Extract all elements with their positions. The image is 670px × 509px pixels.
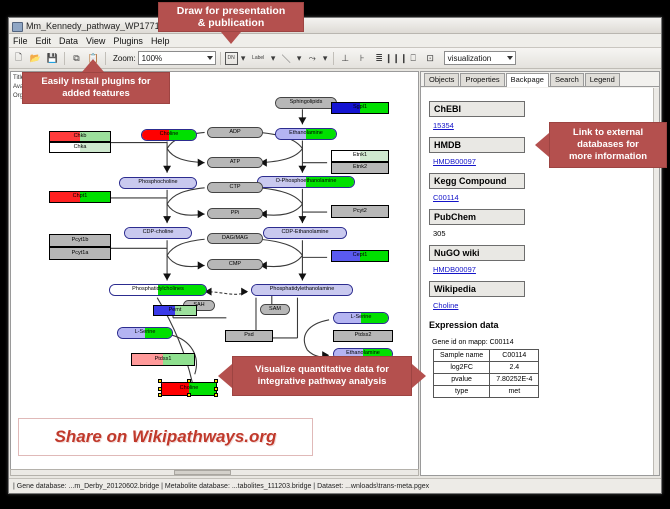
row-val-sample-name: C00114	[490, 350, 539, 362]
pathway-gene-etnk1[interactable]: Etnk1	[331, 150, 389, 162]
selection-handle-5[interactable]	[158, 393, 162, 397]
callout-visualize-left-arrow-icon	[218, 364, 232, 388]
interaction-icon[interactable]: ⤳	[305, 51, 320, 66]
pathway-gene-sgpl1[interactable]: Sgpl1	[331, 102, 389, 114]
toolbar-separator-2	[105, 52, 106, 65]
db-header-pubchem: PubChem	[429, 209, 525, 225]
db-header-nugo: NuGO wiki	[429, 245, 525, 261]
callout-draw-arrow-icon	[221, 32, 241, 44]
pathway-node-cdp-ethanolamine[interactable]: CDP-Ethanolamine	[263, 227, 347, 239]
expression-table: Sample name C00114 log2FC 2.4 pvalue 7.8…	[433, 349, 539, 398]
pathway-node-sphingolipids[interactable]: Sphingolipids	[275, 97, 337, 109]
pathway-gene-chkb[interactable]: Chkb	[49, 131, 111, 142]
row-key-pvalue: pvalue	[434, 374, 490, 386]
callout-draw-line1: Draw for presentation	[177, 5, 286, 17]
pathway-gene-etnk2[interactable]: Etnk2	[331, 162, 389, 174]
pathway-gene-pcyt1a[interactable]: Pcyt1a	[49, 247, 111, 260]
pathway-node-cmp[interactable]: CMP	[207, 259, 263, 270]
table-row: type met	[434, 386, 539, 398]
side-panel-tabs: Objects Properties Backpage Search Legen…	[421, 72, 659, 87]
zoom-value: 100%	[142, 54, 162, 63]
node-label: ADP	[229, 130, 240, 136]
menu-edit[interactable]: Edit	[36, 36, 52, 46]
db-link-kegg[interactable]: C00114	[433, 193, 653, 202]
tab-legend[interactable]: Legend	[585, 73, 620, 86]
callout-visualize-right-arrow-icon	[412, 364, 426, 388]
pathway-node-o-phosphoethanolamine[interactable]: O-Phosphoethanolamine	[257, 176, 355, 188]
callout-links-line2: databases for	[569, 139, 647, 151]
visualization-combobox[interactable]: visualization	[444, 51, 516, 65]
pathway-gene-cept1[interactable]: Cept1	[331, 250, 389, 262]
db-value-pubchem: 305	[433, 229, 653, 238]
menu-file[interactable]: File	[13, 36, 28, 46]
pathway-node-ethanolamine-top[interactable]: Ethanolamine	[275, 128, 337, 140]
callout-links-arrow-icon	[535, 133, 549, 157]
table-row: pvalue 7.80252E-4	[434, 374, 539, 386]
selection-handle-0[interactable]	[158, 379, 162, 383]
row-key-sample-name: Sample name	[434, 350, 490, 362]
pathway-node-l-serine-right[interactable]: L-Serine	[333, 312, 389, 324]
gene-label: Ptdss1	[155, 357, 172, 363]
gene-label: Pemt	[169, 308, 182, 314]
callout-links-line3: more information	[569, 151, 647, 163]
scrollbar-thumb[interactable]	[174, 470, 231, 475]
callout-draw-for-presentation: Draw for presentation & publication	[158, 2, 304, 32]
node-label: Sphingolipids	[290, 100, 323, 106]
menu-plugins[interactable]: Plugins	[113, 36, 143, 46]
toolbar-separator-3	[220, 52, 221, 65]
new-file-icon[interactable]: 🗋	[11, 51, 26, 66]
pathway-node-ctp[interactable]: CTP	[207, 182, 263, 193]
row-key-type: type	[434, 386, 490, 398]
pathway-node-phosphocholine[interactable]: Phosphocholine	[119, 177, 197, 189]
gene-label: Sgpl1	[353, 105, 367, 111]
toolbar: 🗋 📂 💾 ⧉ 📋 Zoom: 100% DN ▾ Label ▾ ＼ ▾ ⤳ …	[9, 48, 661, 69]
chevron-down-icon	[507, 56, 513, 60]
db-header-hmdb: HMDB	[429, 137, 525, 153]
expression-data-heading: Expression data	[429, 320, 653, 330]
gene-label: Cept1	[353, 253, 368, 259]
pathway-gene-psd[interactable]: Psd	[225, 330, 273, 342]
callout-visualize-line2: integrative pathway analysis	[255, 376, 389, 388]
canvas-horizontal-scrollbar[interactable]	[10, 469, 419, 476]
statusbar-text: | Gene database: ...m_Derby_20120602.bri…	[13, 483, 429, 490]
menu-help[interactable]: Help	[151, 36, 170, 46]
zoom-combobox[interactable]: 100%	[138, 51, 216, 65]
row-val-log2fc: 2.4	[490, 362, 539, 374]
selection-handle-3[interactable]	[158, 387, 162, 391]
gene-label: Etnk2	[353, 165, 367, 171]
selection-handle-7[interactable]	[214, 393, 218, 397]
gene-label: Etnk1	[353, 153, 367, 159]
db-link-wikipedia[interactable]: Choline	[433, 301, 653, 310]
callout-plugins-arrow-icon	[82, 59, 104, 72]
pathway-node-adp[interactable]: ADP	[207, 127, 263, 138]
stack-icon[interactable]: ⎕	[406, 51, 421, 66]
open-folder-icon[interactable]: 📂	[28, 51, 43, 66]
label-dropdown-icon[interactable]: ▾	[270, 51, 277, 66]
tab-search[interactable]: Search	[550, 73, 584, 86]
node-label: Choline	[180, 386, 199, 392]
statusbar: | Gene database: ...m_Derby_20120602.bri…	[9, 478, 661, 493]
menubar: File Edit Data View Plugins Help	[9, 34, 661, 48]
screen-root: Mm_Kennedy_pathway_WP1771_45176.gpml Fil…	[0, 0, 670, 509]
pathway-node-ppi[interactable]: PPi	[207, 208, 263, 219]
pathway-node-phosphatidylcholines[interactable]: Phosphatidylcholines	[109, 284, 207, 296]
row-key-log2fc: log2FC	[434, 362, 490, 374]
visualization-value: visualization	[448, 54, 492, 63]
node-label: CMP	[229, 262, 241, 268]
selection-handle-6[interactable]	[187, 393, 191, 397]
node-label: Phosphatidylethanolamine	[270, 287, 335, 293]
gene-label: Ptdss2	[355, 333, 372, 339]
pathway-gene-pemt[interactable]: Pemt	[153, 305, 197, 316]
node-label: Phosphocholine	[138, 180, 177, 186]
menu-data[interactable]: Data	[59, 36, 78, 46]
pathway-node-choline-top[interactable]: Choline	[141, 129, 197, 141]
db-header-kegg: Kegg Compound	[429, 173, 525, 189]
gene-label: Pcyt2	[353, 209, 367, 215]
callout-draw-line2: & publication	[177, 17, 286, 29]
pathway-node-atp[interactable]: ATP	[207, 157, 263, 168]
pathway-gene-ptdss2[interactable]: Ptdss2	[333, 330, 393, 342]
node-label: ATP	[230, 160, 240, 166]
node-label: DAG/MAG	[222, 236, 248, 242]
gene-label: Psd	[244, 333, 253, 339]
pathway-node-sam[interactable]: SAM	[260, 304, 290, 315]
pathway-gene-pcyt1b[interactable]: Pcyt1b	[49, 234, 111, 247]
menu-view[interactable]: View	[86, 36, 105, 46]
node-label: CTP	[230, 185, 241, 191]
node-label: SAH	[193, 303, 204, 309]
zoom-label: Zoom:	[113, 54, 136, 63]
gene-label: Chka	[74, 145, 87, 151]
tab-objects[interactable]: Objects	[424, 73, 459, 86]
callout-link-to-external-databases: Link to external databases for more info…	[549, 122, 667, 168]
node-label: Ethanolamine	[289, 131, 323, 137]
tab-backpage[interactable]: Backpage	[506, 73, 549, 87]
gene-id-on-mapp: Gene id on mapp: C00114	[432, 339, 653, 346]
node-label: CDP-choline	[143, 230, 174, 236]
pathway-canvas[interactable]: Title: Availa Organi	[10, 71, 419, 476]
node-label: O-Phosphoethanolamine	[276, 179, 337, 185]
chevron-down-icon	[207, 56, 213, 60]
pathway-node-l-serine-left[interactable]: L-Serine	[117, 327, 173, 339]
interaction-dropdown-icon[interactable]: ▾	[322, 51, 329, 66]
gene-label: Chpt1	[73, 194, 88, 200]
pathway-gene-chpt1[interactable]: Chpt1	[49, 191, 111, 203]
gene-label: Pcyt1a	[72, 251, 89, 257]
selection-handle-1[interactable]	[187, 379, 191, 383]
align-top-icon[interactable]: ⊥	[338, 51, 353, 66]
callout-links-line1: Link to external	[569, 127, 647, 139]
callout-easily-install-plugins: Easily install plugins for added feature…	[22, 72, 170, 104]
toolbar-separator-1	[64, 52, 65, 65]
callout-plugins-line1: Easily install plugins for	[41, 76, 150, 88]
node-label: Choline	[160, 132, 179, 138]
row-val-type: met	[490, 386, 539, 398]
pathway-node-phosphatidylethanolamine[interactable]: Phosphatidylethanolamine	[251, 284, 353, 296]
node-label: SAM	[269, 307, 281, 313]
window-titlebar: Mm_Kennedy_pathway_WP1771_45176.gpml	[9, 18, 661, 34]
datanode-dropdown-icon[interactable]: ▾	[240, 51, 247, 66]
toolbar-separator-4	[333, 52, 334, 65]
db-link-nugo[interactable]: HMDB00097	[433, 265, 653, 274]
callout-visualize-line1: Visualize quantitative data for	[255, 364, 389, 376]
line-icon[interactable]: ＼	[279, 51, 294, 66]
table-row: Sample name C00114	[434, 350, 539, 362]
pathway-node-dagmag[interactable]: DAG/MAG	[207, 233, 263, 244]
pathway-gene-pcyt2[interactable]: Pcyt2	[331, 205, 389, 218]
node-label: CDP-Ethanolamine	[281, 230, 328, 236]
align-left-icon[interactable]: ⊦	[355, 51, 370, 66]
callout-visualize-quantitative-data: Visualize quantitative data for integrat…	[232, 356, 412, 396]
node-label: L-Serine	[135, 330, 156, 336]
pathway-node-cdp-choline[interactable]: CDP-choline	[124, 227, 192, 239]
db-header-wikipedia: Wikipedia	[429, 281, 525, 297]
node-label: Phosphatidylcholines	[132, 287, 184, 293]
table-row: log2FC 2.4	[434, 362, 539, 374]
node-label: PPi	[231, 211, 240, 217]
line-dropdown-icon[interactable]: ▾	[296, 51, 303, 66]
order-icon[interactable]: ⊡	[423, 51, 438, 66]
callout-plugins-line2: added features	[41, 88, 150, 100]
distribute-h-icon[interactable]: ❙❙❙	[389, 51, 404, 66]
callout-share-on-wikipathways: Share on Wikipathways.org	[18, 418, 313, 456]
pathway-gene-chka[interactable]: Chka	[49, 142, 111, 153]
gene-label: Pcyt1b	[72, 238, 89, 244]
db-header-chebi: ChEBI	[429, 101, 525, 117]
row-val-pvalue: 7.80252E-4	[490, 374, 539, 386]
label-icon[interactable]: Label	[249, 51, 268, 66]
pathvisio-icon	[12, 21, 22, 31]
datanode-icon[interactable]: DN	[225, 52, 238, 65]
tab-properties[interactable]: Properties	[460, 73, 504, 86]
node-label: L-Serine	[351, 315, 372, 321]
gene-label: Chkb	[74, 134, 87, 140]
save-icon[interactable]: 💾	[45, 51, 60, 66]
pathway-gene-ptdss1[interactable]: Ptdss1	[131, 353, 195, 366]
